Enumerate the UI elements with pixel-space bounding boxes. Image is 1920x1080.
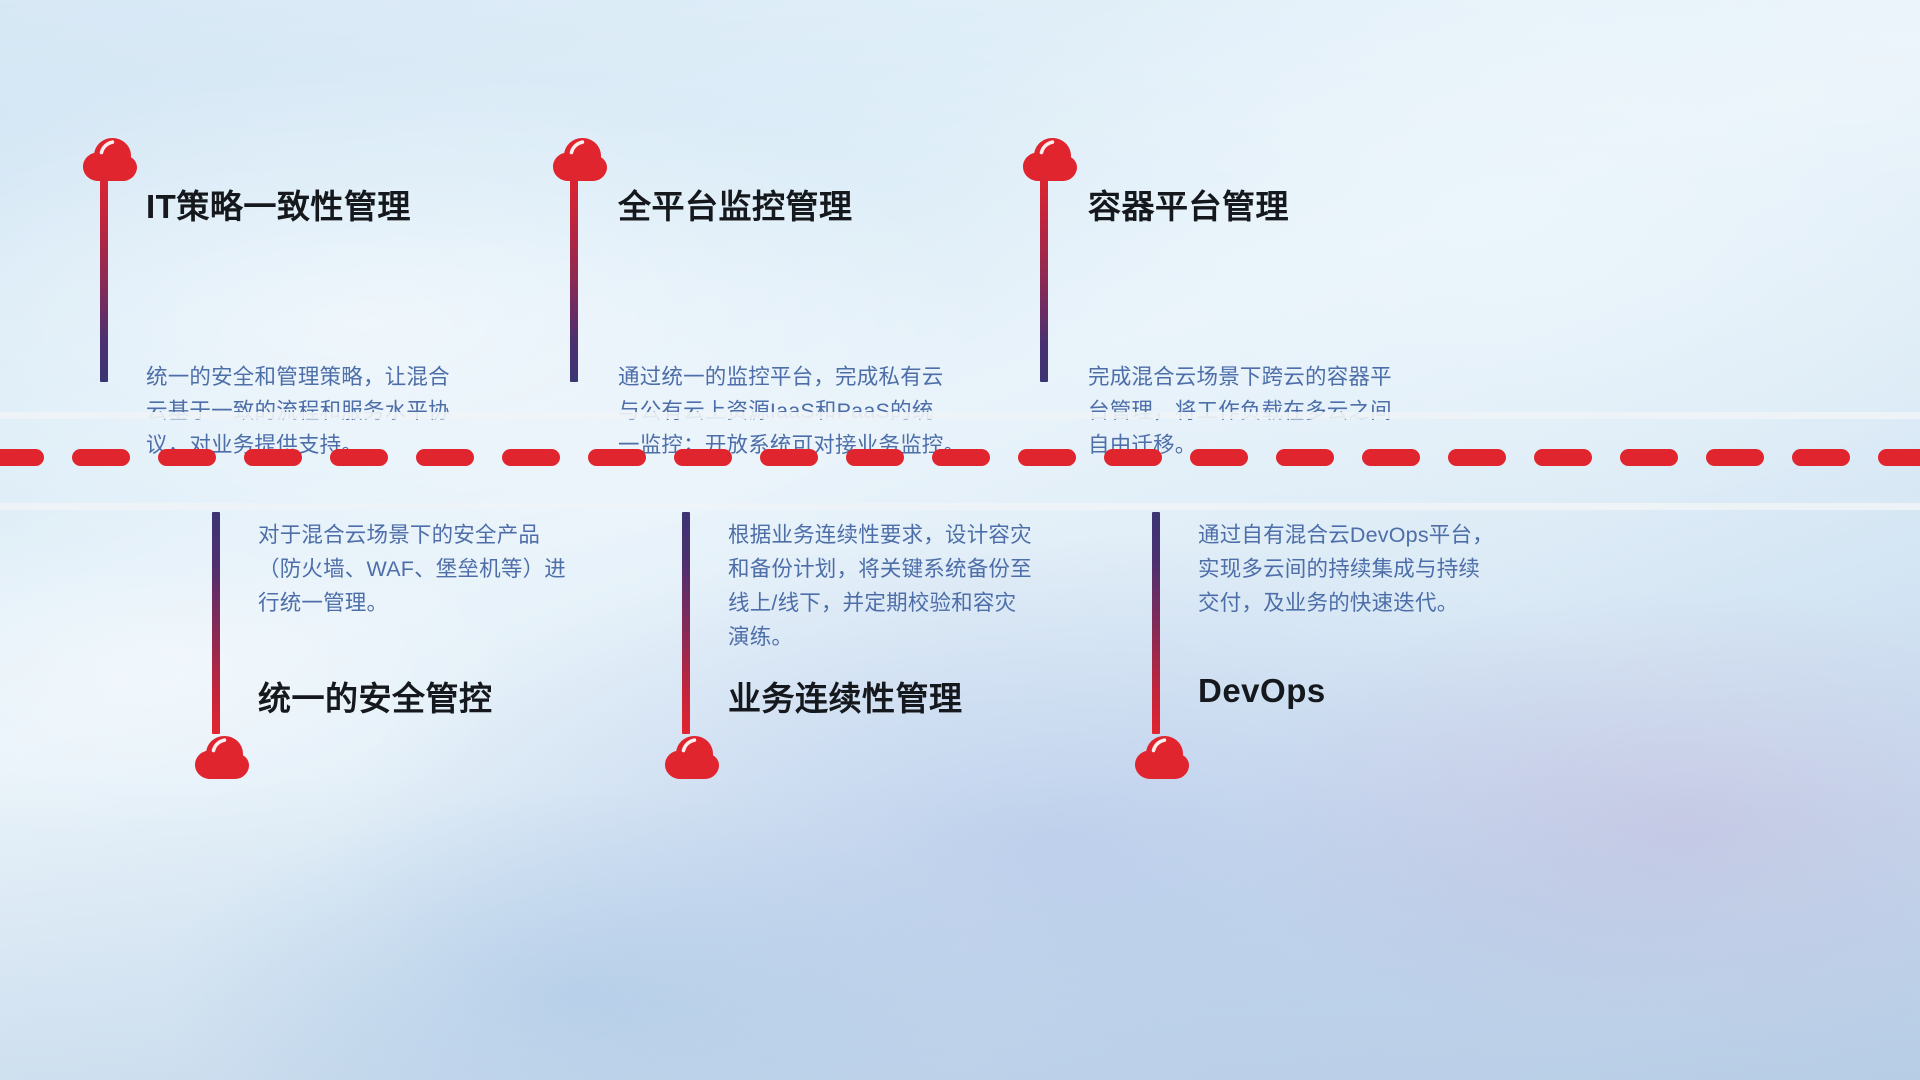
card-description: 根据业务连续性要求，设计容灾和备份计划，将关键系统备份至线上/线下，并定期校验和… [728,518,1032,654]
card-description-line: 交付，及业务的快速迭代。 [1198,586,1494,620]
road-dash [1620,449,1678,466]
road-dash [1362,449,1420,466]
cloud-icon [190,730,254,780]
card-title: IT策略一致性管理 [146,180,411,228]
card-description-line: 实现多云间的持续集成与持续 [1198,552,1494,586]
road-dash [760,449,818,466]
card-title: 全平台监控管理 [618,180,853,228]
connector-stem [1040,172,1048,382]
card-description-line: 行统一管理。 [258,586,566,620]
road-dash [674,449,732,466]
road-dash [0,449,44,466]
card-description-line: 通过统一的监控平台，完成私有云 [618,360,965,394]
road-dash [1792,449,1850,466]
road-dash [158,449,216,466]
road-dash [1190,449,1248,466]
road-dash [932,449,990,466]
road-dash [1534,449,1592,466]
card-description-line: 完成混合云场景下跨云的容器平 [1088,360,1392,394]
road-dash [1104,449,1162,466]
cloud-icon [1130,730,1194,780]
connector-stem [570,172,578,382]
card-description: 对于混合云场景下的安全产品（防火墙、WAF、堡垒机等）进行统一管理。 [258,518,566,620]
road-dash [72,449,130,466]
card-description-line: 演练。 [728,620,1032,654]
card-description-line: 根据业务连续性要求，设计容灾 [728,518,1032,552]
road-edge-bottom [0,503,1920,510]
road-dash [416,449,474,466]
connector-stem [212,512,220,734]
connector-stem [1152,512,1160,734]
card-title: 统一的安全管控 [258,672,493,720]
card-description-line: 线上/线下，并定期校验和容灾 [728,586,1032,620]
road-dash [1276,449,1334,466]
connector-stem [100,172,108,382]
road-divider [0,400,1920,520]
road-dash [1706,449,1764,466]
road-dash [330,449,388,466]
card-title: 业务连续性管理 [728,672,963,720]
road-dash-strip [0,448,1906,466]
road-edge-top [0,412,1920,419]
card-title: DevOps [1198,672,1326,710]
card-description-line: （防火墙、WAF、堡垒机等）进 [258,552,566,586]
card-description-line: 对于混合云场景下的安全产品 [258,518,566,552]
card-title: 容器平台管理 [1088,180,1289,228]
road-dash [1018,449,1076,466]
cloud-icon [660,730,724,780]
card-description-line: 统一的安全和管理策略，让混合 [146,360,450,394]
road-dash [244,449,302,466]
card-description-line: 和备份计划，将关键系统备份至 [728,552,1032,586]
road-dash [1448,449,1506,466]
road-dash [1878,449,1920,466]
cloud-icon [78,132,142,182]
cloud-icon [548,132,612,182]
cloud-icon [1018,132,1082,182]
card-description-line: 通过自有混合云DevOps平台， [1198,518,1494,552]
road-dash [502,449,560,466]
road-dash [588,449,646,466]
road-dash [846,449,904,466]
card-description: 通过自有混合云DevOps平台，实现多云间的持续集成与持续交付，及业务的快速迭代… [1198,518,1494,620]
connector-stem [682,512,690,734]
